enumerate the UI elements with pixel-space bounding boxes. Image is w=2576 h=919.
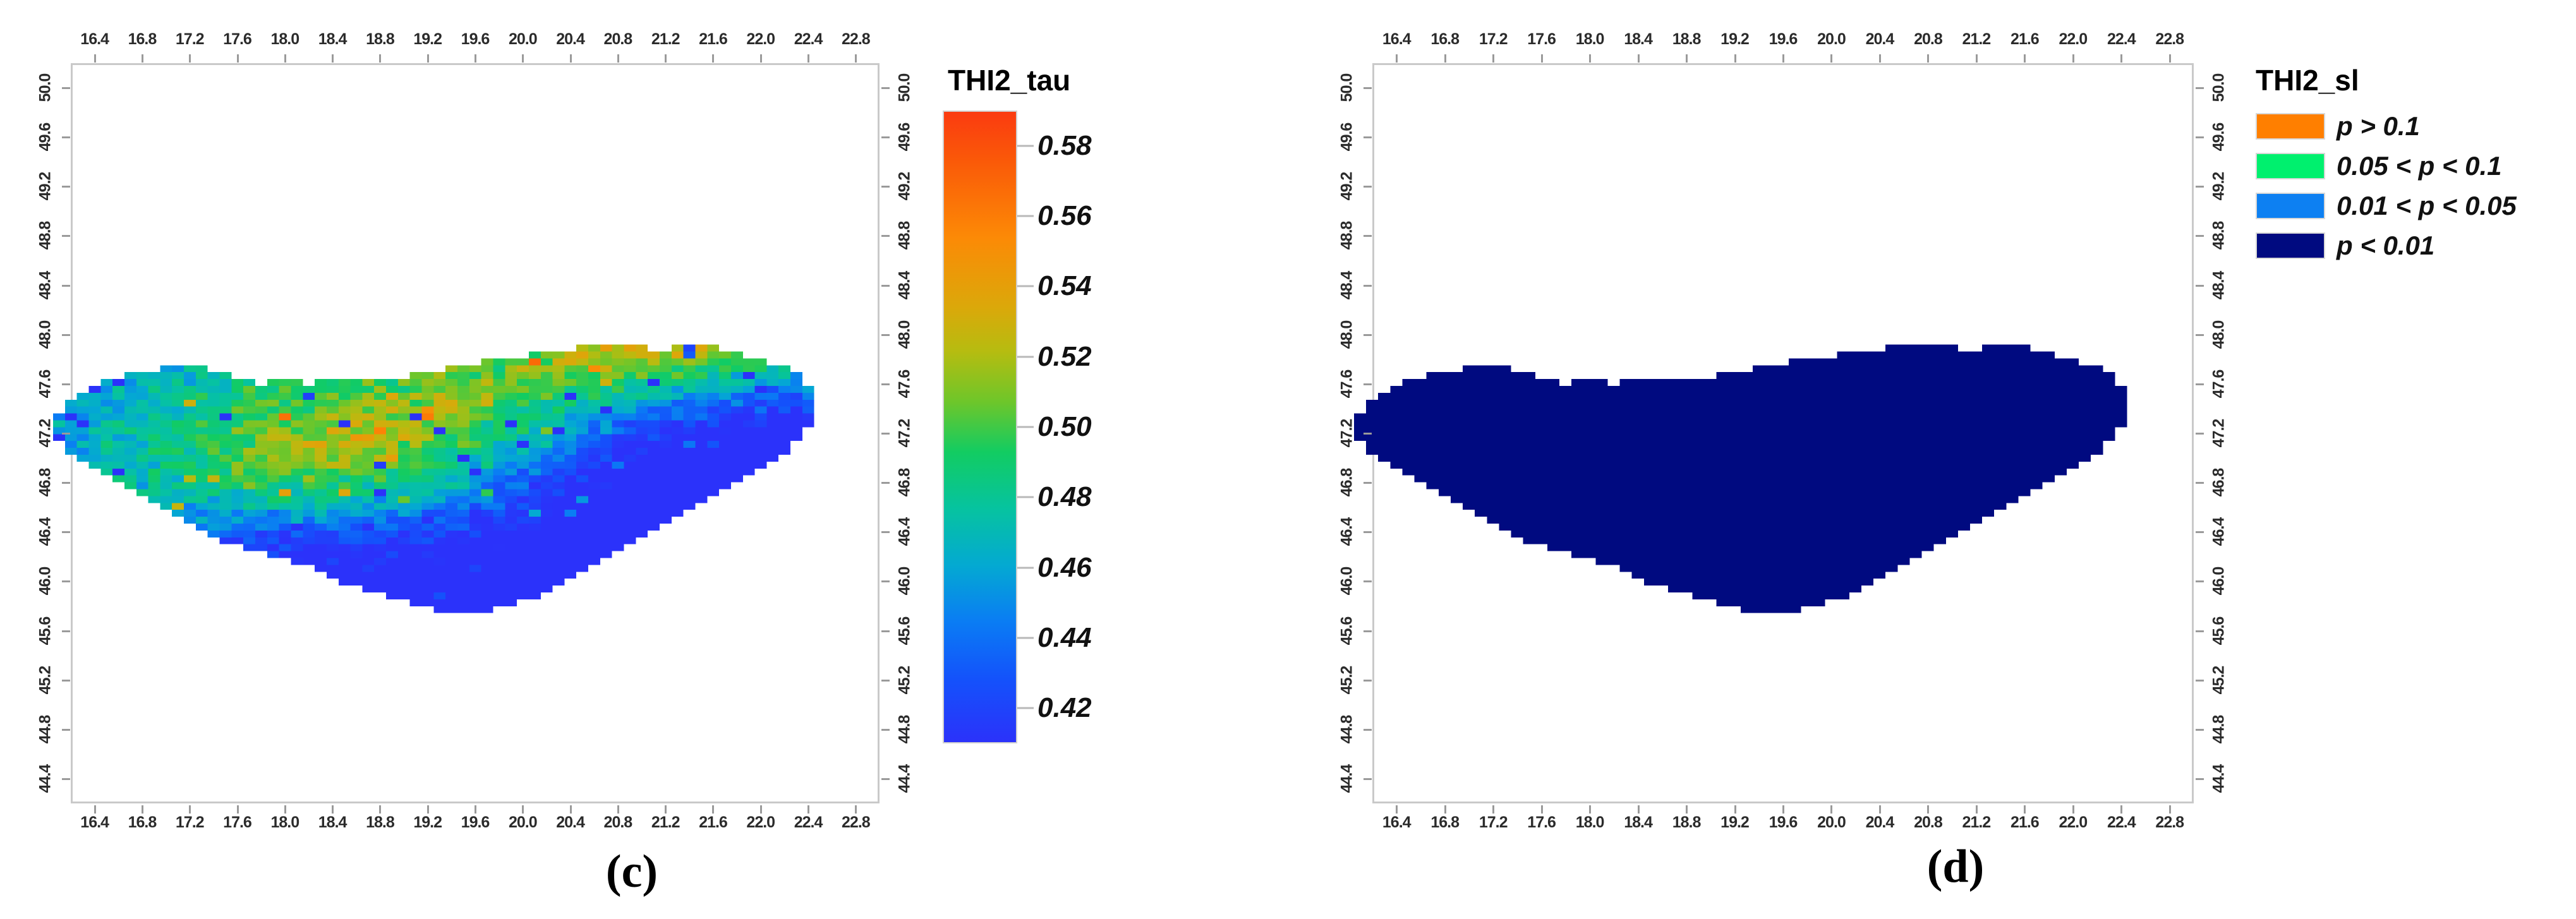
y-tick-label-left-12: 45.2 <box>37 666 55 694</box>
colorbar-tick-line-7 <box>1017 637 1034 639</box>
legend-item-1: 0.05 < p < 0.1 <box>2256 151 2502 181</box>
y-tick-label-right-14: 44.4 <box>896 765 914 793</box>
legend-swatch-3 <box>2256 232 2325 259</box>
y-tick-right-13 <box>2196 729 2204 731</box>
x-tick-bottom-1 <box>1444 805 1446 814</box>
y-tick-label-left-5: 48.0 <box>1338 320 1357 349</box>
x-tick-label-bottom-8: 19.6 <box>1769 814 1798 832</box>
x-tick-label-top-11: 20.8 <box>604 30 632 49</box>
y-tick-right-7 <box>2196 433 2204 435</box>
y-tick-label-right-6: 47.6 <box>896 370 914 399</box>
x-tick-top-1 <box>1444 54 1446 63</box>
y-tick-left-2 <box>1364 186 1372 188</box>
colorbar-tick-line-3 <box>1017 356 1034 357</box>
y-tick-label-right-13: 44.8 <box>2210 715 2228 743</box>
y-tick-right-14 <box>881 778 890 780</box>
x-tick-label-top-12: 21.2 <box>651 30 680 49</box>
panel-caption-d: (d) <box>1927 840 1984 894</box>
legend-label-2: 0.01 < p < 0.05 <box>2337 191 2517 221</box>
x-tick-label-top-3: 17.6 <box>223 30 251 49</box>
x-tick-top-11 <box>1927 54 1929 63</box>
y-tick-label-left-13: 44.8 <box>37 715 55 743</box>
y-tick-label-right-9: 46.4 <box>896 518 914 546</box>
x-tick-label-bottom-7: 19.2 <box>1720 814 1749 832</box>
x-tick-top-12 <box>665 54 667 63</box>
x-tick-top-3 <box>237 54 239 63</box>
y-tick-right-4 <box>881 285 890 287</box>
x-tick-label-top-8: 19.6 <box>1769 30 1798 49</box>
x-tick-label-bottom-14: 22.0 <box>2059 814 2087 832</box>
x-tick-bottom-4 <box>284 805 286 814</box>
x-tick-bottom-0 <box>1396 805 1398 814</box>
y-tick-left-7 <box>62 433 70 435</box>
legend-label-3: p < 0.01 <box>2337 231 2434 261</box>
x-tick-label-bottom-15: 22.4 <box>794 814 823 832</box>
x-tick-bottom-1 <box>142 805 143 814</box>
figure-root: 16.416.416.816.817.217.217.617.618.018.0… <box>0 0 2576 919</box>
colorbar-tick-line-8 <box>1017 707 1034 709</box>
y-tick-label-left-10: 46.0 <box>1338 567 1357 596</box>
x-tick-label-bottom-5: 18.4 <box>318 814 347 832</box>
colorbar-tick-label-3: 0.52 <box>1037 341 1092 373</box>
y-tick-right-3 <box>881 235 890 237</box>
y-tick-left-7 <box>1364 433 1372 435</box>
y-tick-label-left-5: 48.0 <box>37 320 55 349</box>
x-tick-bottom-9 <box>1830 805 1832 814</box>
y-tick-right-6 <box>2196 383 2204 385</box>
legend-label-1: 0.05 < p < 0.1 <box>2337 151 2502 181</box>
x-tick-bottom-16 <box>855 805 857 814</box>
x-tick-top-10 <box>1879 54 1881 63</box>
x-tick-bottom-5 <box>332 805 334 814</box>
y-tick-right-12 <box>2196 680 2204 682</box>
y-tick-right-2 <box>881 186 890 188</box>
x-tick-top-14 <box>2072 54 2074 63</box>
x-tick-label-top-2: 17.2 <box>176 30 204 49</box>
x-tick-label-top-14: 22.0 <box>746 30 775 49</box>
y-tick-right-7 <box>881 433 890 435</box>
y-tick-left-12 <box>62 680 70 682</box>
y-tick-left-12 <box>1364 680 1372 682</box>
y-tick-right-5 <box>2196 334 2204 336</box>
y-tick-label-left-7: 47.2 <box>1338 419 1357 448</box>
x-tick-label-bottom-7: 19.2 <box>413 814 442 832</box>
x-tick-label-bottom-13: 21.6 <box>699 814 727 832</box>
colorbar-tick-line-6 <box>1017 567 1034 568</box>
y-tick-label-right-4: 48.4 <box>2210 271 2228 299</box>
y-tick-left-0 <box>1364 87 1372 89</box>
x-tick-top-1 <box>142 54 143 63</box>
y-tick-label-right-14: 44.4 <box>2210 765 2228 793</box>
x-tick-label-bottom-2: 17.2 <box>1479 814 1508 832</box>
y-tick-label-left-7: 47.2 <box>37 419 55 448</box>
x-tick-bottom-11 <box>1927 805 1929 814</box>
legend-item-2: 0.01 < p < 0.05 <box>2256 191 2517 221</box>
y-tick-label-left-4: 48.4 <box>1338 271 1357 299</box>
x-tick-label-bottom-16: 22.8 <box>2155 814 2184 832</box>
x-tick-label-bottom-3: 17.6 <box>1527 814 1556 832</box>
colorbar-tick-line-4 <box>1017 426 1034 428</box>
y-tick-label-left-2: 49.2 <box>1338 172 1357 201</box>
x-tick-top-8 <box>1782 54 1784 63</box>
x-tick-top-11 <box>617 54 619 63</box>
x-tick-bottom-13 <box>2024 805 2026 814</box>
x-tick-label-top-12: 21.2 <box>1962 30 1991 49</box>
x-tick-label-bottom-1: 16.8 <box>1430 814 1459 832</box>
y-tick-right-8 <box>2196 482 2204 484</box>
y-tick-right-6 <box>881 383 890 385</box>
x-tick-label-bottom-4: 18.0 <box>1576 814 1604 832</box>
x-tick-label-top-10: 20.4 <box>556 30 584 49</box>
x-tick-label-bottom-8: 19.6 <box>461 814 490 832</box>
x-tick-top-2 <box>1492 54 1494 63</box>
y-tick-right-3 <box>2196 235 2204 237</box>
colorbar-tick-label-6: 0.46 <box>1037 552 1092 584</box>
colorbar-title: THI2_tau <box>948 63 1070 97</box>
y-tick-label-left-11: 45.6 <box>1338 616 1357 645</box>
y-tick-label-left-0: 50.0 <box>1338 74 1357 102</box>
y-tick-label-right-2: 49.2 <box>2210 172 2228 201</box>
y-tick-label-left-8: 46.8 <box>1338 469 1357 497</box>
y-tick-right-9 <box>881 531 890 533</box>
x-tick-bottom-6 <box>379 805 381 814</box>
x-tick-top-5 <box>332 54 334 63</box>
y-tick-label-left-8: 46.8 <box>37 469 55 497</box>
x-tick-label-bottom-10: 20.4 <box>1866 814 1894 832</box>
x-tick-bottom-6 <box>1686 805 1688 814</box>
x-tick-bottom-10 <box>570 805 572 814</box>
y-tick-left-9 <box>62 531 70 533</box>
y-tick-left-9 <box>1364 531 1372 533</box>
panel-caption-c: (c) <box>606 845 658 899</box>
x-tick-bottom-8 <box>475 805 476 814</box>
colorbar-tick-label-7: 0.44 <box>1037 622 1092 654</box>
x-tick-top-6 <box>379 54 381 63</box>
y-tick-label-right-12: 45.2 <box>2210 666 2228 694</box>
x-tick-top-2 <box>189 54 191 63</box>
y-tick-left-8 <box>1364 482 1372 484</box>
x-tick-label-top-7: 19.2 <box>1720 30 1749 49</box>
y-tick-label-right-12: 45.2 <box>896 666 914 694</box>
x-tick-label-top-11: 20.8 <box>1914 30 1942 49</box>
y-tick-right-12 <box>881 680 890 682</box>
colorbar-gradient <box>943 111 1017 743</box>
x-tick-label-top-10: 20.4 <box>1866 30 1894 49</box>
x-tick-label-top-5: 18.4 <box>318 30 347 49</box>
x-tick-label-bottom-6: 18.8 <box>1672 814 1701 832</box>
x-tick-bottom-14 <box>760 805 762 814</box>
x-tick-label-top-3: 17.6 <box>1527 30 1556 49</box>
x-tick-label-bottom-14: 22.0 <box>746 814 775 832</box>
x-tick-label-bottom-12: 21.2 <box>1962 814 1991 832</box>
x-tick-label-top-8: 19.6 <box>461 30 490 49</box>
x-tick-label-top-15: 22.4 <box>794 30 823 49</box>
y-tick-label-left-14: 44.4 <box>37 765 55 793</box>
y-tick-left-6 <box>1364 383 1372 385</box>
x-tick-label-top-0: 16.4 <box>80 30 109 49</box>
x-tick-label-top-13: 21.6 <box>2011 30 2039 49</box>
x-tick-bottom-3 <box>1541 805 1543 814</box>
y-tick-right-8 <box>881 482 890 484</box>
y-tick-label-right-7: 47.2 <box>896 419 914 448</box>
x-tick-bottom-11 <box>617 805 619 814</box>
x-tick-label-top-9: 20.0 <box>509 30 537 49</box>
legend-title: THI2_sl <box>2256 63 2359 97</box>
x-tick-bottom-4 <box>1589 805 1591 814</box>
x-tick-label-top-13: 21.6 <box>699 30 727 49</box>
x-tick-label-bottom-4: 18.0 <box>270 814 299 832</box>
y-tick-label-right-5: 48.0 <box>896 320 914 349</box>
y-tick-left-14 <box>62 778 70 780</box>
y-tick-label-right-2: 49.2 <box>896 172 914 201</box>
legend-swatch-0 <box>2256 113 2325 140</box>
x-tick-top-7 <box>1734 54 1736 63</box>
x-tick-top-9 <box>522 54 524 63</box>
x-tick-label-bottom-12: 21.2 <box>651 814 680 832</box>
colorbar-tick-label-0: 0.58 <box>1037 130 1092 162</box>
y-tick-label-right-4: 48.4 <box>896 271 914 299</box>
x-tick-top-0 <box>1396 54 1398 63</box>
x-tick-top-16 <box>855 54 857 63</box>
y-tick-label-right-10: 46.0 <box>896 567 914 596</box>
x-tick-label-top-14: 22.0 <box>2059 30 2087 49</box>
x-tick-label-bottom-10: 20.4 <box>556 814 584 832</box>
y-tick-left-1 <box>1364 136 1372 138</box>
y-tick-left-4 <box>1364 285 1372 287</box>
x-tick-top-8 <box>475 54 476 63</box>
x-tick-label-top-2: 17.2 <box>1479 30 1508 49</box>
x-tick-bottom-0 <box>94 805 96 814</box>
x-tick-label-top-0: 16.4 <box>1382 30 1411 49</box>
y-tick-label-left-9: 46.4 <box>1338 518 1357 546</box>
y-tick-left-11 <box>1364 630 1372 632</box>
x-tick-bottom-3 <box>237 805 239 814</box>
x-tick-label-bottom-6: 18.8 <box>366 814 394 832</box>
x-tick-label-top-1: 16.8 <box>128 30 157 49</box>
y-tick-label-left-13: 44.8 <box>1338 715 1357 743</box>
x-tick-top-6 <box>1686 54 1688 63</box>
y-tick-left-13 <box>62 729 70 731</box>
y-tick-right-4 <box>2196 285 2204 287</box>
colorbar-tick-line-0 <box>1017 145 1034 147</box>
x-tick-bottom-2 <box>1492 805 1494 814</box>
colorbar-tick-label-4: 0.50 <box>1037 411 1092 443</box>
y-tick-left-5 <box>1364 334 1372 336</box>
colorbar-tick-line-1 <box>1017 215 1034 217</box>
y-tick-label-right-5: 48.0 <box>2210 320 2228 349</box>
y-tick-right-10 <box>2196 580 2204 582</box>
y-tick-label-right-0: 50.0 <box>896 74 914 102</box>
x-tick-label-top-7: 19.2 <box>413 30 442 49</box>
y-tick-left-6 <box>62 383 70 385</box>
y-tick-left-2 <box>62 186 70 188</box>
y-tick-right-0 <box>2196 87 2204 89</box>
x-tick-label-top-1: 16.8 <box>1430 30 1459 49</box>
x-tick-bottom-9 <box>522 805 524 814</box>
x-tick-label-bottom-5: 18.4 <box>1624 814 1652 832</box>
y-tick-label-left-2: 49.2 <box>37 172 55 201</box>
y-tick-right-11 <box>2196 630 2204 632</box>
y-tick-left-1 <box>62 136 70 138</box>
x-tick-label-bottom-3: 17.6 <box>223 814 251 832</box>
y-tick-right-2 <box>2196 186 2204 188</box>
y-tick-right-13 <box>881 729 890 731</box>
y-tick-label-right-3: 48.8 <box>896 222 914 250</box>
y-tick-label-left-10: 46.0 <box>37 567 55 596</box>
x-tick-label-bottom-16: 22.8 <box>842 814 870 832</box>
x-tick-bottom-15 <box>807 805 809 814</box>
y-tick-left-11 <box>62 630 70 632</box>
y-tick-left-0 <box>62 87 70 89</box>
y-tick-right-1 <box>881 136 890 138</box>
y-tick-label-left-6: 47.6 <box>1338 370 1357 399</box>
x-tick-top-14 <box>760 54 762 63</box>
colorbar-tick-label-8: 0.42 <box>1037 692 1092 724</box>
y-tick-label-left-14: 44.4 <box>1338 765 1357 793</box>
y-tick-label-right-9: 46.4 <box>2210 518 2228 546</box>
x-tick-bottom-12 <box>1976 805 1978 814</box>
y-tick-right-11 <box>881 630 890 632</box>
raster-map-thi2-sl <box>1354 248 2175 661</box>
x-tick-top-3 <box>1541 54 1543 63</box>
x-tick-label-bottom-11: 20.8 <box>604 814 632 832</box>
y-tick-label-right-6: 47.6 <box>2210 370 2228 399</box>
panel-c: 16.416.416.816.817.217.217.617.618.018.0… <box>0 0 1264 919</box>
y-tick-label-left-11: 45.6 <box>37 616 55 645</box>
y-tick-label-right-10: 46.0 <box>2210 567 2228 596</box>
x-tick-label-top-6: 18.8 <box>1672 30 1701 49</box>
x-tick-top-12 <box>1976 54 1978 63</box>
x-tick-label-top-16: 22.8 <box>842 30 870 49</box>
y-tick-label-right-11: 45.6 <box>2210 616 2228 645</box>
y-tick-right-14 <box>2196 778 2204 780</box>
x-tick-top-16 <box>2169 54 2171 63</box>
x-tick-top-13 <box>712 54 714 63</box>
y-tick-label-left-9: 46.4 <box>37 518 55 546</box>
x-tick-top-10 <box>570 54 572 63</box>
y-tick-right-10 <box>881 580 890 582</box>
x-tick-top-7 <box>427 54 429 63</box>
legend-swatch-2 <box>2256 193 2325 219</box>
x-tick-label-top-9: 20.0 <box>1817 30 1846 49</box>
x-tick-label-bottom-0: 16.4 <box>80 814 109 832</box>
y-tick-left-10 <box>1364 580 1372 582</box>
x-tick-bottom-5 <box>1638 805 1640 814</box>
y-tick-label-right-8: 46.8 <box>896 469 914 497</box>
y-tick-right-5 <box>881 334 890 336</box>
y-tick-label-left-3: 48.8 <box>1338 222 1357 250</box>
x-tick-label-bottom-0: 16.4 <box>1382 814 1411 832</box>
x-tick-label-bottom-9: 20.0 <box>1817 814 1846 832</box>
x-tick-bottom-2 <box>189 805 191 814</box>
y-tick-label-right-1: 49.6 <box>896 123 914 152</box>
y-tick-left-13 <box>1364 729 1372 731</box>
x-tick-label-bottom-1: 16.8 <box>128 814 157 832</box>
colorbar-tick-line-5 <box>1017 496 1034 498</box>
x-tick-label-bottom-11: 20.8 <box>1914 814 1942 832</box>
x-tick-label-bottom-9: 20.0 <box>509 814 537 832</box>
x-tick-bottom-14 <box>2072 805 2074 814</box>
y-tick-left-10 <box>62 580 70 582</box>
y-tick-label-right-3: 48.8 <box>2210 222 2228 250</box>
colorbar-tick-label-2: 0.54 <box>1037 270 1092 302</box>
x-tick-top-5 <box>1638 54 1640 63</box>
y-tick-label-right-13: 44.8 <box>896 715 914 743</box>
y-tick-label-left-1: 49.6 <box>1338 123 1357 152</box>
y-tick-label-left-3: 48.8 <box>37 222 55 250</box>
x-tick-top-0 <box>94 54 96 63</box>
y-tick-right-1 <box>2196 136 2204 138</box>
legend-item-3: p < 0.01 <box>2256 231 2434 261</box>
y-tick-label-right-11: 45.6 <box>896 616 914 645</box>
x-tick-label-bottom-13: 21.6 <box>2011 814 2039 832</box>
x-tick-label-top-16: 22.8 <box>2155 30 2184 49</box>
x-tick-bottom-13 <box>712 805 714 814</box>
colorbar-tick-label-5: 0.48 <box>1037 481 1092 513</box>
y-tick-left-5 <box>62 334 70 336</box>
x-tick-top-15 <box>807 54 809 63</box>
legend-label-0: p > 0.1 <box>2337 111 2420 141</box>
x-tick-label-top-4: 18.0 <box>270 30 299 49</box>
panel-d: 16.416.416.816.817.217.217.617.618.018.0… <box>1302 0 2576 919</box>
x-tick-bottom-8 <box>1782 805 1784 814</box>
y-tick-label-right-7: 47.2 <box>2210 419 2228 448</box>
x-tick-top-13 <box>2024 54 2026 63</box>
y-tick-left-3 <box>62 235 70 237</box>
x-tick-bottom-7 <box>427 805 429 814</box>
y-tick-left-14 <box>1364 778 1372 780</box>
y-tick-label-left-6: 47.6 <box>37 370 55 399</box>
x-tick-top-9 <box>1830 54 1832 63</box>
legend-item-0: p > 0.1 <box>2256 111 2420 141</box>
x-tick-bottom-16 <box>2169 805 2171 814</box>
y-tick-label-right-1: 49.6 <box>2210 123 2228 152</box>
x-tick-top-4 <box>1589 54 1591 63</box>
y-tick-left-3 <box>1364 235 1372 237</box>
colorbar-tick-line-2 <box>1017 285 1034 287</box>
y-tick-label-left-12: 45.2 <box>1338 666 1357 694</box>
x-tick-bottom-12 <box>665 805 667 814</box>
y-tick-right-9 <box>2196 531 2204 533</box>
y-tick-label-left-4: 48.4 <box>37 271 55 299</box>
legend-swatch-1 <box>2256 153 2325 179</box>
x-tick-label-bottom-2: 17.2 <box>176 814 204 832</box>
colorbar-tick-label-1: 0.56 <box>1037 200 1092 232</box>
x-tick-label-top-15: 22.4 <box>2107 30 2136 49</box>
y-tick-label-left-0: 50.0 <box>37 74 55 102</box>
x-tick-bottom-15 <box>2120 805 2122 814</box>
y-tick-left-4 <box>62 285 70 287</box>
y-tick-label-right-8: 46.8 <box>2210 469 2228 497</box>
y-tick-label-right-0: 50.0 <box>2210 74 2228 102</box>
x-tick-top-4 <box>284 54 286 63</box>
y-tick-label-left-1: 49.6 <box>37 123 55 152</box>
y-tick-right-0 <box>881 87 890 89</box>
x-tick-bottom-10 <box>1879 805 1881 814</box>
x-tick-bottom-7 <box>1734 805 1736 814</box>
x-tick-label-top-4: 18.0 <box>1576 30 1604 49</box>
raster-map-thi2-tau <box>53 248 862 661</box>
x-tick-top-15 <box>2120 54 2122 63</box>
x-tick-label-bottom-15: 22.4 <box>2107 814 2136 832</box>
y-tick-left-8 <box>62 482 70 484</box>
x-tick-label-top-5: 18.4 <box>1624 30 1652 49</box>
x-tick-label-top-6: 18.8 <box>366 30 394 49</box>
